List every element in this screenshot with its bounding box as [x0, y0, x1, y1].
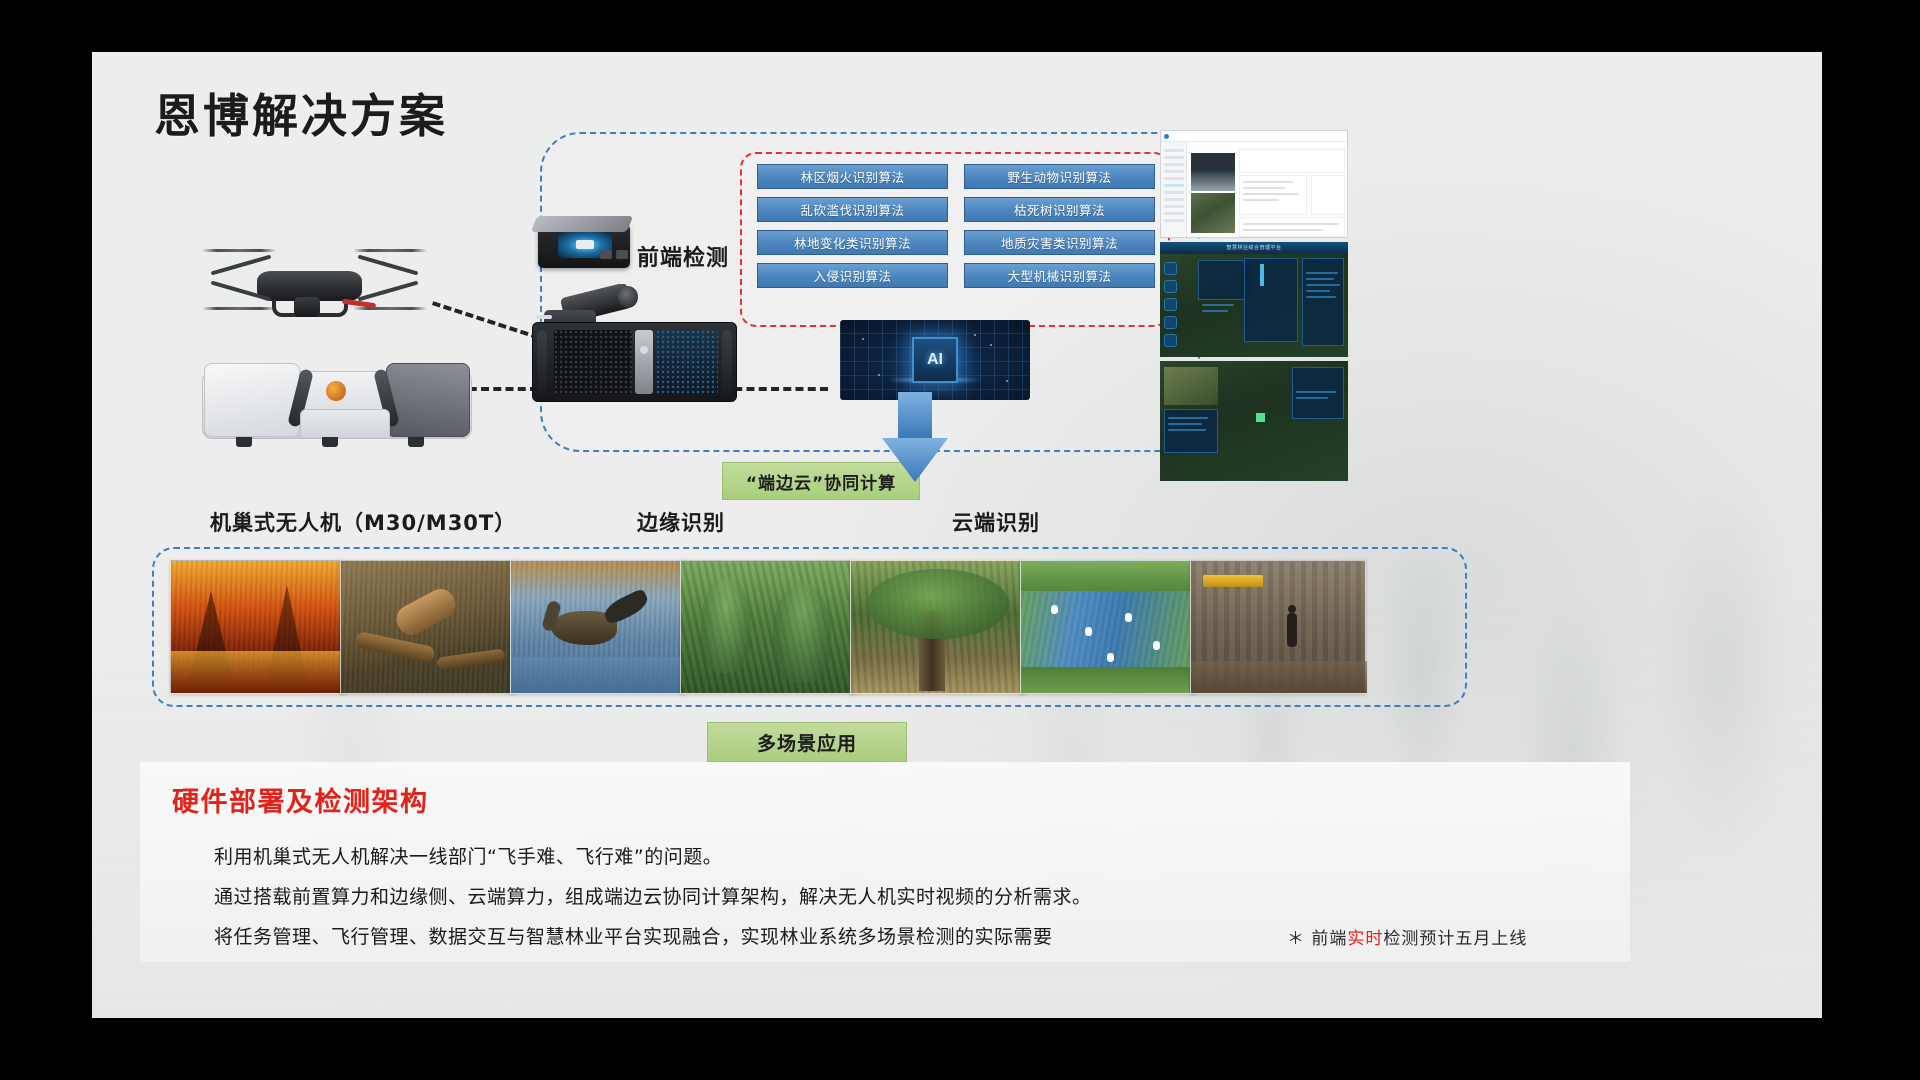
front-detection-device-image [532, 212, 640, 274]
down-arrow-icon [882, 392, 948, 482]
bottom-panel-line: 利用机巢式无人机解决一线部门“飞手难、飞行难”的问题。 [214, 842, 722, 869]
page-title: 恩博解决方案 [154, 80, 448, 146]
connector-dash-2 [722, 387, 828, 391]
letterbox-bottom [0, 1018, 1920, 1080]
algorithm-box[interactable]: 入侵识别算法 [757, 263, 948, 288]
bottom-panel-line: 通过搭载前置算力和边缘侧、云端算力，组成端边云协同计算架构，解决无人机实时视频的… [214, 882, 1092, 909]
drone-dock-image [202, 357, 472, 447]
letterbox-right [1822, 0, 1920, 1080]
scene-image-large-tree [850, 560, 1026, 694]
algorithm-box[interactable]: 乱砍滥伐识别算法 [757, 197, 948, 222]
algorithm-grid: 林区烟火识别算法 野生动物识别算法 乱砍滥伐识别算法 枯死树识别算法 林地变化类… [757, 164, 1155, 288]
ai-chip-label: AI [912, 337, 958, 383]
algorithm-box[interactable]: 林区烟火识别算法 [757, 164, 948, 189]
scene-image-illegal-logging [340, 560, 516, 694]
algorithm-box[interactable]: 大型机械识别算法 [964, 263, 1155, 288]
letterbox-top [0, 0, 1920, 52]
presentation-slide: 恩博解决方案 [92, 52, 1822, 1018]
front-detection-label: 前端检测 [637, 240, 729, 272]
footnote-suffix: 检测预计五月上线 [1383, 929, 1527, 949]
scene-image-forest-change [680, 560, 856, 694]
letterbox-left [0, 0, 92, 1080]
drone-image [202, 237, 427, 337]
scene-image-forest-fire [170, 560, 346, 694]
footnote-highlight: 实时 [1347, 929, 1383, 949]
platform-screenshot-web [1160, 130, 1348, 238]
bottom-panel-heading: 硬件部署及检测架构 [172, 780, 429, 819]
cloud-caption: 云端识别 [952, 507, 1040, 537]
multi-scene-tag: 多场景应用 [707, 722, 907, 762]
scene-image-wetland-birds [1020, 560, 1196, 694]
drone-caption: 机巢式无人机（M30/M30T） [210, 507, 516, 537]
scene-image-wild-animal [510, 560, 686, 694]
edge-server-image [532, 322, 737, 402]
edge-caption: 边缘识别 [637, 507, 725, 537]
platform-screenshot-map [1160, 361, 1348, 481]
footnote-prefix: ＊ 前端 [1287, 929, 1347, 949]
bottom-panel-line: 将任务管理、飞行管理、数据交互与智慧林业平台实现融合，实现林业系统多场景检测的实… [214, 922, 1053, 949]
platform-window-title: 智慧林业综合管理平台 [1226, 244, 1281, 251]
screen: 恩博解决方案 [0, 0, 1920, 1080]
algorithm-box[interactable]: 野生动物识别算法 [964, 164, 1155, 189]
algorithm-box[interactable]: 地质灾害类识别算法 [964, 230, 1155, 255]
ai-cloud-chip-image: AI [840, 320, 1030, 400]
algorithm-box[interactable]: 枯死树识别算法 [964, 197, 1155, 222]
scene-image-intrusion-person [1190, 560, 1366, 694]
footnote: ＊ 前端实时检测预计五月上线 [1287, 924, 1527, 949]
platform-screenshot-dashboard: 智慧林业综合管理平台 [1160, 242, 1348, 357]
algorithm-box[interactable]: 林地变化类识别算法 [757, 230, 948, 255]
